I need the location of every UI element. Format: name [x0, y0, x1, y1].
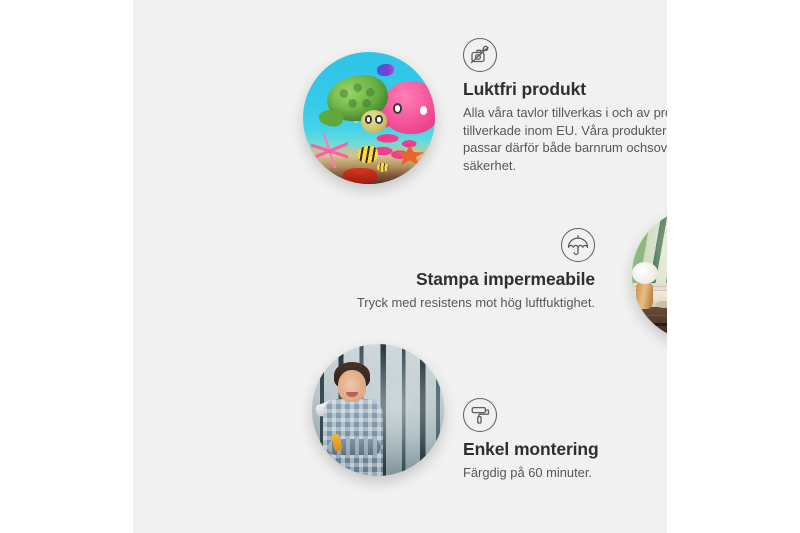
feature-waterproof-icon-wrap	[561, 228, 595, 262]
soap-dish-decor	[656, 301, 667, 308]
feature-odorless-icon-wrap	[463, 38, 497, 72]
bathroom-tropical-wallpaper-image	[632, 209, 667, 341]
umbrella-icon	[561, 228, 595, 262]
feature-odorless-title: Luktfri produkt	[463, 79, 667, 100]
woman-face-decor	[338, 370, 366, 402]
feature-waterproof-description: Tryck med resistens mot hög luftfuktighe…	[328, 294, 595, 312]
feature-odorless: Luktfri produkt Alla våra tavlor tillver…	[463, 38, 667, 174]
yellow-fish-decor	[358, 146, 378, 163]
drawer-handle-decor	[653, 323, 667, 326]
feature-easy-install: Enkel montering Färgdig på 60 minuter.	[463, 398, 667, 482]
feature-easy-install-title: Enkel montering	[463, 439, 667, 460]
crab-decor	[343, 168, 377, 183]
kids-underwater-scene-image	[303, 52, 435, 184]
feature-waterproof-title: Stampa impermeabile	[328, 269, 595, 290]
feature-odorless-description: Alla våra tavlor tillverkas i och av pro…	[463, 104, 667, 174]
vase-decor	[636, 283, 653, 309]
painter-artwork	[312, 344, 444, 476]
no-perfume-icon	[463, 38, 497, 72]
turtle-head-decor	[361, 110, 387, 132]
feature-waterproof: Stampa impermeabile Tryck med resistens …	[328, 228, 595, 312]
feature-easy-install-icon-wrap	[463, 398, 497, 432]
blue-fish-decor	[377, 64, 394, 76]
feature-easy-install-description: Färgdig på 60 minuter.	[463, 464, 667, 482]
product-feature-page: Luktfri produkt Alla våra tavlor tillver…	[0, 0, 800, 533]
paint-roller-icon	[463, 398, 497, 432]
pink-coral-decor	[311, 134, 348, 168]
kids-underwater-artwork	[303, 52, 435, 184]
feature-panel: Luktfri produkt Alla våra tavlor tillver…	[133, 0, 667, 533]
bathroom-artwork	[632, 209, 667, 341]
vanity-drawer-decor	[645, 315, 667, 328]
small-fish-decor	[377, 163, 389, 172]
painter-forest-wallpaper-image	[312, 344, 444, 476]
